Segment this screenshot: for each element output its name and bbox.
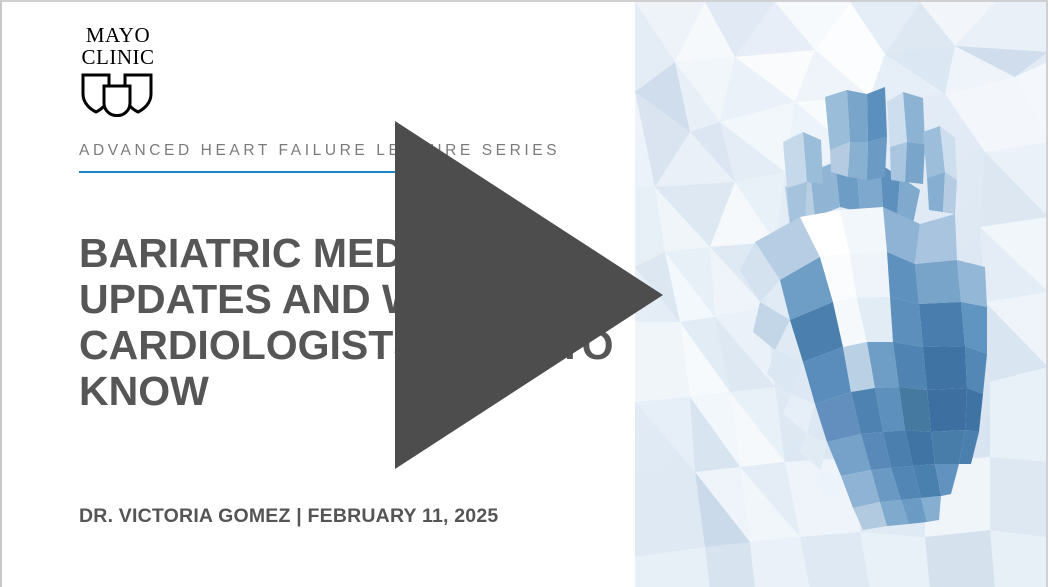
mayo-three-shields-icon bbox=[79, 72, 155, 118]
presenter-and-date-byline: DR. VICTORIA GOMEZ | FEBRUARY 11, 2025 bbox=[79, 505, 498, 528]
video-play-button[interactable] bbox=[395, 121, 663, 469]
low-poly-heart-illustration bbox=[635, 2, 1048, 587]
logo-wordmark-mayo: MAYO bbox=[76, 24, 160, 46]
play-triangle-icon[interactable] bbox=[395, 121, 663, 469]
heart-artwork-panel bbox=[635, 2, 1048, 587]
logo-wordmark-clinic: CLINIC bbox=[76, 46, 160, 68]
mayo-clinic-logo: MAYO CLINIC bbox=[76, 24, 160, 118]
video-title-slide: MAYO CLINIC ADVANCED HEART FAILURE LECTU… bbox=[0, 0, 1048, 587]
accent-divider-rule bbox=[79, 171, 407, 173]
